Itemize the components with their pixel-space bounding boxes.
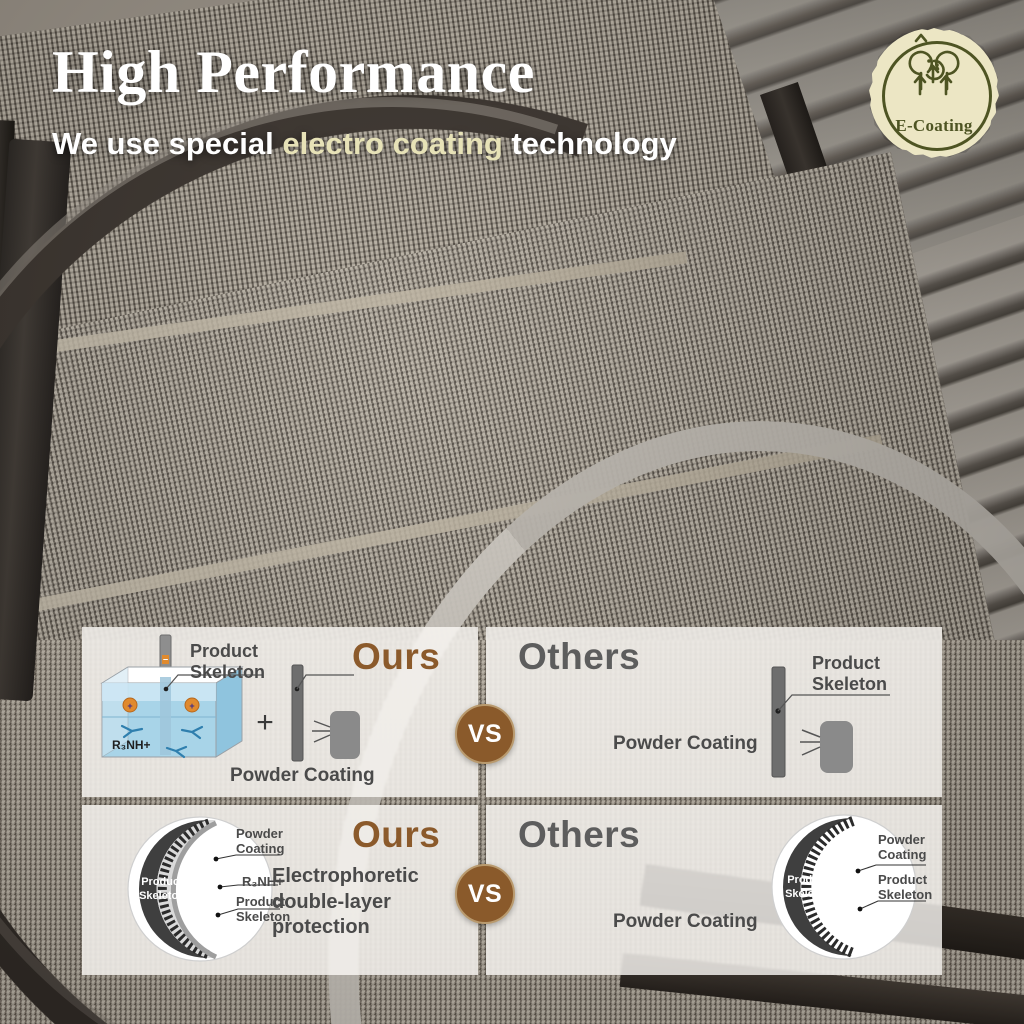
page-subtitle: We use special electro coating technolog…	[52, 126, 677, 162]
subtitle-pre: We use special	[52, 126, 282, 161]
callout-line-1: Product	[878, 873, 932, 888]
svg-text:+: +	[127, 701, 132, 711]
label-others-bottom: Others	[518, 814, 640, 856]
description-line-1: Electrophoretic	[272, 864, 419, 890]
svg-text:Product: Product	[787, 874, 829, 886]
product-marketing-image: High Performance We use special electro …	[0, 0, 1024, 1024]
svg-text:+: +	[189, 701, 194, 711]
description-line-3: protection	[272, 915, 419, 941]
callout-line-1: Powder	[878, 833, 926, 848]
callout-line-2: Skeleton	[190, 662, 265, 683]
svg-text:−: −	[163, 655, 168, 665]
callout-product-skeleton-top-others: Product Skeleton	[812, 653, 887, 694]
plus-sign: +	[256, 706, 274, 739]
e-coating-badge: E-Coating	[869, 28, 999, 158]
powder-coating-label-others-bottom: Powder Coating	[613, 911, 758, 933]
tree-arrows-icon	[897, 52, 971, 110]
label-ours-bottom: Ours	[352, 814, 440, 856]
svg-text:Skeleton: Skeleton	[785, 888, 831, 900]
vs-badge-top: VS	[455, 704, 515, 764]
electrophoretic-description: Electrophoretic double-layer protection	[272, 864, 419, 941]
label-ours-top: Ours	[352, 636, 440, 678]
callout-line-2: Skeleton	[812, 674, 887, 695]
solution-label: R₃NH+	[112, 738, 151, 752]
badge-label: E-Coating	[869, 116, 999, 136]
subtitle-highlight: electro coating	[282, 126, 503, 161]
callout-product-skeleton-top-ours: Product Skeleton	[190, 641, 265, 682]
callout-line-1: Product	[812, 653, 887, 674]
callout-line-1: Product	[190, 641, 265, 662]
callout-line-2: Coating	[236, 842, 284, 857]
callout-powder-coating-br: Powder Coating	[878, 833, 926, 863]
powder-coating-label-others-top: Powder Coating	[613, 733, 758, 755]
subtitle-post: technology	[503, 126, 677, 161]
description-line-2: double-layer	[272, 890, 419, 916]
callout-line-2: Skeleton	[878, 888, 932, 903]
svg-text:Product: Product	[141, 876, 183, 888]
callout-product-skeleton-br: Product Skeleton	[878, 873, 932, 903]
callout-line-1: Powder	[236, 827, 284, 842]
callout-powder-coating-bl: Powder Coating	[236, 827, 284, 857]
powder-coating-label-ours: Powder Coating	[230, 765, 375, 787]
page-title: High Performance	[52, 38, 535, 107]
callout-line-2: Coating	[878, 848, 926, 863]
vs-badge-bottom: VS	[455, 864, 515, 924]
label-others-top: Others	[518, 636, 640, 678]
svg-text:Skeleton: Skeleton	[139, 890, 185, 902]
